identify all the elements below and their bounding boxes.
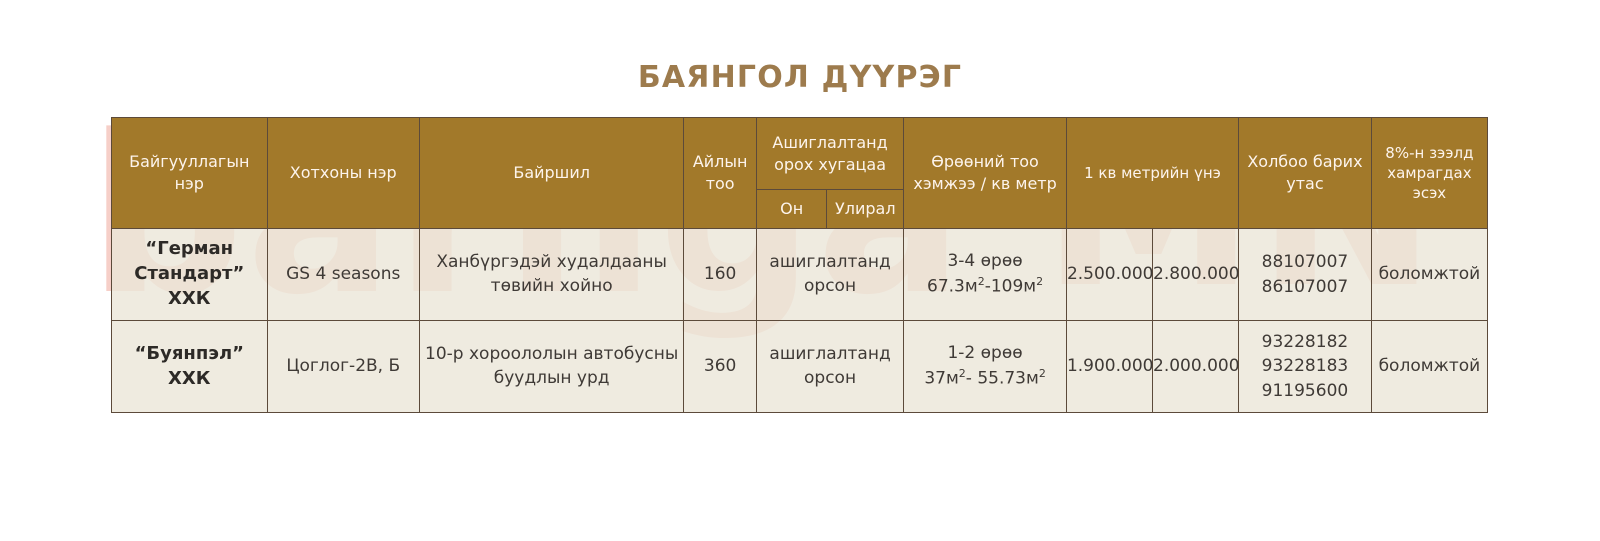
cell-phones: 88107007 86107007	[1239, 229, 1372, 321]
col-header-price-per-sqm: 1 кв метрийн үнэ	[1066, 118, 1238, 229]
cell-organization: “Буянпэл” ХХК	[112, 321, 268, 413]
cell-price-high: 2.800.000	[1153, 229, 1239, 321]
col-header-commission-season: Улирал	[827, 190, 904, 229]
col-header-organization: Байгууллагын нэр	[112, 118, 268, 229]
col-header-units: Айлын тоо	[684, 118, 757, 229]
rooms-count: 1-2 өрөө	[904, 342, 1066, 366]
col-header-commission-period: Ашиглалтанд орох хугацаа	[756, 118, 903, 190]
cell-phones: 93228182 93228183 91195600	[1239, 321, 1372, 413]
table-row[interactable]: “Буянпэл” ХХК Цоглог-2В, Б 10-р хороолол…	[112, 321, 1488, 413]
phone-number: 91195600	[1239, 379, 1371, 404]
table-body: “Герман Стандарт” ХХК GS 4 seasons Ханбү…	[112, 229, 1488, 413]
cell-location: 10-р хороололын автобусны буудлын урд	[419, 321, 683, 413]
listing-table-container: Байгууллагын нэр Хотхоны нэр Байршил Айл…	[111, 117, 1488, 413]
col-header-commission-year: Он	[756, 190, 827, 229]
table-header: Байгууллагын нэр Хотхоны нэр Байршил Айл…	[112, 118, 1488, 229]
col-header-phone: Холбоо барих утас	[1239, 118, 1372, 229]
rooms-count: 3-4 өрөө	[904, 250, 1066, 274]
phone-number: 86107007	[1239, 275, 1371, 300]
cell-rooms: 1-2 өрөө 37м2- 55.73м2	[904, 321, 1067, 413]
rooms-area: 37м2- 55.73м2	[904, 366, 1066, 391]
cell-price-low: 1.900.000	[1066, 321, 1152, 413]
cell-commission-period: ашиглалтанд орсон	[756, 321, 903, 413]
phone-number: 88107007	[1239, 250, 1371, 275]
phone-number: 93228183	[1239, 354, 1371, 379]
cell-location: Ханбүргэдэй худалдааны төвийн хойно	[419, 229, 683, 321]
cell-price-low: 2.500.000	[1066, 229, 1152, 321]
rooms-area: 67.3м2-109м2	[904, 274, 1066, 299]
cell-units: 360	[684, 321, 757, 413]
cell-complex: GS 4 seasons	[267, 229, 419, 321]
cell-price-high: 2.000.000	[1153, 321, 1239, 413]
cell-commission-period: ашиглалтанд орсон	[756, 229, 903, 321]
col-header-location: Байршил	[419, 118, 683, 229]
page-title: БАЯНГОЛ ДҮҮРЭГ	[0, 60, 1600, 95]
cell-organization: “Герман Стандарт” ХХК	[112, 229, 268, 321]
col-header-loan: 8%-н зээлд хамрагдах эсэх	[1371, 118, 1487, 229]
cell-loan-status: боломжтой	[1371, 321, 1487, 413]
cell-loan-status: боломжтой	[1371, 229, 1487, 321]
table-row[interactable]: “Герман Стандарт” ХХК GS 4 seasons Ханбү…	[112, 229, 1488, 321]
cell-rooms: 3-4 өрөө 67.3м2-109м2	[904, 229, 1067, 321]
cell-units: 160	[684, 229, 757, 321]
header-row-main: Байгууллагын нэр Хотхоны нэр Байршил Айл…	[112, 118, 1488, 190]
col-header-complex: Хотхоны нэр	[267, 118, 419, 229]
col-header-rooms: Өрөөний тоо хэмжээ / кв метр	[904, 118, 1067, 229]
cell-complex: Цоглог-2В, Б	[267, 321, 419, 413]
phone-number: 93228182	[1239, 330, 1371, 355]
housing-listing-table: Байгууллагын нэр Хотхоны нэр Байршил Айл…	[111, 117, 1488, 413]
